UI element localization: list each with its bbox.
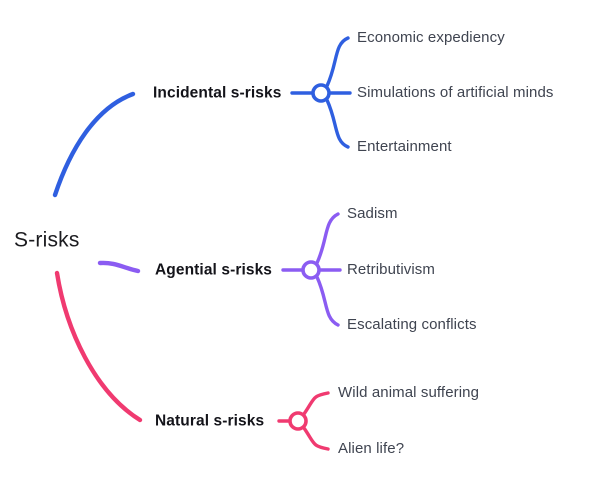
root-label: S-risks [14,228,80,251]
leaf-label-sadism[interactable]: Sadism [347,206,398,223]
category-label-incidental[interactable]: Incidental s-risks [153,84,281,101]
trunk-natural [57,273,140,420]
leaf-label-alien-life[interactable]: Alien life? [338,441,404,458]
fork-natural-1 [304,393,328,414]
trunk-incidental [55,94,133,195]
mindmap-canvas: S-risks Incidental s-risks Agential s-ri… [0,0,600,479]
leaf-label-retributivism[interactable]: Retributivism [347,262,435,279]
fork-incidental-3 [327,100,348,147]
category-label-agential[interactable]: Agential s-risks [155,261,272,278]
fork-agential-3 [317,277,338,325]
fork-agential-1 [317,214,338,263]
leaf-label-entertainment[interactable]: Entertainment [357,139,452,156]
leaf-label-simulations-of-artificial-minds[interactable]: Simulations of artificial minds [357,85,554,102]
leaf-label-economic-expediency[interactable]: Economic expediency [357,30,505,47]
fork-natural-2 [304,428,328,449]
trunk-agential [100,263,138,271]
leaf-label-wild-animal-suffering[interactable]: Wild animal suffering [338,385,479,402]
mindmap-connectors [0,0,600,479]
fork-incidental-1 [327,38,348,86]
category-label-natural[interactable]: Natural s-risks [155,412,264,429]
leaf-label-escalating-conflicts[interactable]: Escalating conflicts [347,317,477,334]
